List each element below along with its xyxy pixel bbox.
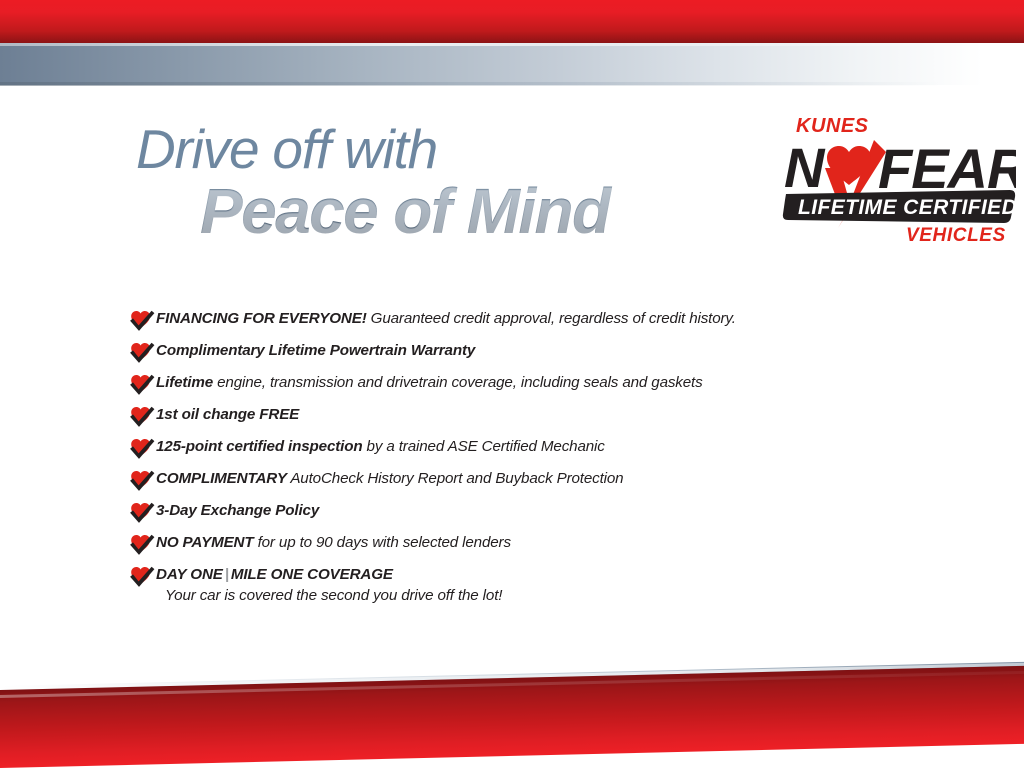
list-item-regular: AutoCheck History Report and Buyback Pro… — [287, 470, 624, 487]
list-item-bold: DAY ONE — [156, 566, 223, 583]
list-item-bold: 1st oil change FREE — [156, 406, 299, 423]
list-item-text: 3-Day Exchange Policy — [156, 500, 319, 521]
list-item-regular: for up to 90 days with selected lenders — [254, 534, 511, 551]
list-item-text: 1st oil change FREE — [156, 404, 299, 425]
heart-check-icon — [128, 566, 156, 588]
list-item-text-group: DAY ONE|MILE ONE COVERAGE Your car is co… — [156, 564, 502, 607]
headline-block: Drive off with Peace of Mind — [136, 122, 736, 244]
promo-page: Drive off with Peace of Mind KUNES N FEA… — [0, 0, 1024, 768]
heart-check-icon — [128, 374, 156, 396]
list-item: 3-Day Exchange Policy — [128, 500, 988, 532]
heart-check-icon — [128, 438, 156, 460]
top-gray-band-shadow — [0, 82, 1024, 86]
top-gray-band-highlight — [0, 43, 1024, 46]
list-item-regular: Guaranteed credit approval, regardless o… — [367, 310, 736, 327]
logo-letter-n: N — [784, 136, 826, 199]
heart-check-icon — [128, 342, 156, 364]
list-item-bold: Complimentary Lifetime Powertrain Warran… — [156, 342, 475, 359]
heart-check-icon — [128, 534, 156, 556]
headline-line-2: Peace of Mind — [200, 179, 736, 244]
list-item: FINANCING FOR EVERYONE! Guaranteed credi… — [128, 308, 988, 340]
heart-check-icon — [128, 470, 156, 492]
list-item-separator: | — [223, 566, 231, 583]
list-item-text: COMPLIMENTARY AutoCheck History Report a… — [156, 468, 623, 489]
list-item-text: Complimentary Lifetime Powertrain Warran… — [156, 340, 475, 361]
logo-banner-text: LIFETIME CERTIFIED — [798, 196, 1016, 219]
top-red-band — [0, 0, 1024, 43]
list-item-bold: NO PAYMENT — [156, 534, 254, 551]
logo-subtitle-text: VEHICLES — [906, 225, 1006, 245]
heart-check-icon — [128, 310, 156, 332]
list-item: 125-point certified inspection by a trai… — [128, 436, 988, 468]
kunes-no-fear-logo: KUNES N FEAR LIFETIME CERTIFIED VEHICLES — [778, 110, 1016, 245]
list-item-text: NO PAYMENT for up to 90 days with select… — [156, 532, 511, 553]
list-item-text: FINANCING FOR EVERYONE! Guaranteed credi… — [156, 308, 736, 329]
list-item-bold: 3-Day Exchange Policy — [156, 502, 319, 519]
heart-check-icon — [128, 406, 156, 428]
list-item-bold: FINANCING FOR EVERYONE! — [156, 310, 367, 327]
list-item-regular: engine, transmission and drivetrain cove… — [213, 374, 703, 391]
list-item: 1st oil change FREE — [128, 404, 988, 436]
headline-line-1: Drive off with — [136, 122, 736, 177]
logo-brand-text: KUNES — [796, 115, 869, 137]
list-item-bold: 125-point certified inspection — [156, 438, 362, 455]
list-item: COMPLIMENTARY AutoCheck History Report a… — [128, 468, 988, 500]
top-gray-band — [0, 43, 1024, 85]
list-item: DAY ONE|MILE ONE COVERAGE Your car is co… — [128, 564, 988, 618]
list-item-text: DAY ONE|MILE ONE COVERAGE — [156, 564, 502, 585]
list-item: NO PAYMENT for up to 90 days with select… — [128, 532, 988, 564]
features-list: FINANCING FOR EVERYONE! Guaranteed credi… — [128, 308, 988, 618]
list-item: Complimentary Lifetime Powertrain Warran… — [128, 340, 988, 372]
list-item-subtext: Your car is covered the second you drive… — [156, 585, 502, 607]
bottom-red-band — [0, 666, 1024, 768]
list-item-text: Lifetime engine, transmission and drivet… — [156, 372, 703, 393]
list-item-regular: by a trained ASE Certified Mechanic — [362, 438, 604, 455]
heart-check-icon — [128, 502, 156, 524]
list-item-bold-2: MILE ONE COVERAGE — [231, 566, 393, 583]
list-item-bold: Lifetime — [156, 374, 213, 391]
list-item-bold: COMPLIMENTARY — [156, 470, 287, 487]
list-item: Lifetime engine, transmission and drivet… — [128, 372, 988, 404]
list-item-text: 125-point certified inspection by a trai… — [156, 436, 605, 457]
